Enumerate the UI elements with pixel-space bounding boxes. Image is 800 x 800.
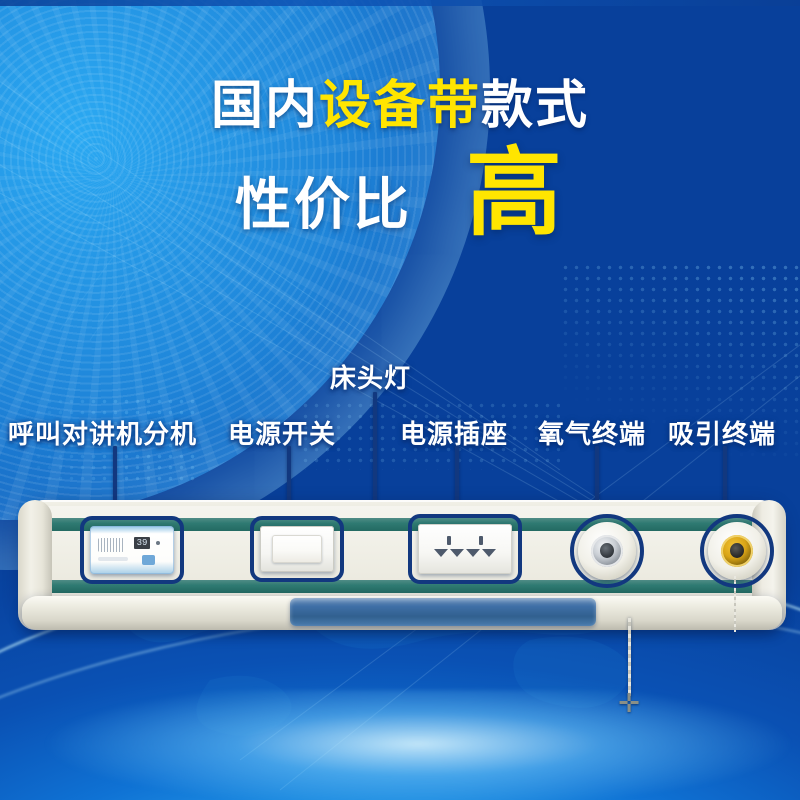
highlight-box-power-switch [250, 516, 344, 582]
highlight-box-intercom [80, 516, 184, 584]
medical-bed-head-panel: 39 [22, 500, 782, 630]
headline-line-1: 国内设备带款式 [0, 78, 800, 134]
callout-label-power-switch: 电源开关 [228, 414, 336, 451]
callout-label-power-socket: 电源插座 [400, 414, 508, 451]
headline-part-2: 设备带 [319, 78, 481, 134]
highlight-box-power-socket [408, 514, 522, 584]
headline-part-3: 款式 [481, 78, 589, 134]
callout-label-intercom: 呼叫对讲机分机 [8, 414, 197, 451]
banner-stage: 国内设备带款式 性价比 高 呼叫对讲机分机 电源开关 床头灯 电源插座 氧气终端… [0, 0, 800, 800]
callout-label-oxygen-outlet: 氧气终端 [538, 414, 646, 451]
headline-value-text: 性价比 [235, 160, 412, 241]
headline-part-1: 国内 [211, 78, 319, 134]
highlight-circle-oxygen [570, 514, 644, 588]
top-edge-bar [0, 0, 800, 6]
callout-label-suction-outlet: 吸引终端 [668, 414, 776, 451]
pull-cord-handle-icon[interactable]: ✛ [616, 690, 642, 716]
bedside-lamp-diffuser [290, 598, 596, 626]
callout-label-bedside-lamp: 床头灯 [330, 358, 411, 395]
headline-line-2: 性价比 高 [0, 156, 800, 244]
headline-highlight-gao: 高 [466, 150, 565, 238]
headline-block: 国内设备带款式 性价比 高 [0, 78, 800, 244]
lamp-pull-cord[interactable] [628, 618, 631, 696]
highlight-circle-suction [700, 514, 774, 588]
